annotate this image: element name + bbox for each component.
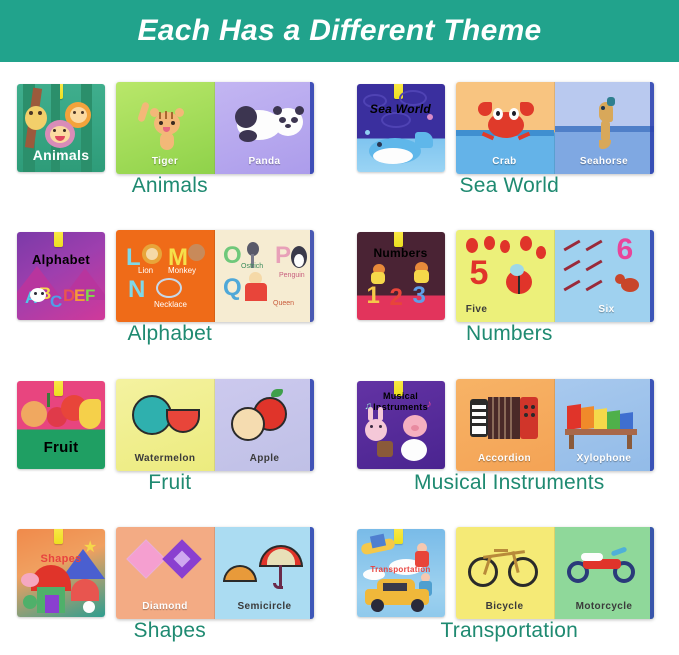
page-label-seahorse: Seahorse (555, 156, 654, 167)
book-page-diamond: Diamond (116, 527, 215, 619)
cover-title-shapes: Shapes (17, 553, 105, 565)
letter-o: O (223, 242, 242, 270)
book-set-shapes: ★ Shapes Diamond (0, 517, 340, 617)
word-ostrich: Ostrich (241, 263, 263, 270)
theme-caption-shapes: Shapes (0, 619, 340, 643)
book-page-xylophone: Xylophone (555, 379, 654, 471)
theme-cell-transportation[interactable]: Transportation (340, 507, 679, 655)
book-page-motorcycle: Motorcycle (555, 527, 654, 619)
theme-grid: Animals (0, 62, 679, 655)
book-cover-alphabet[interactable]: Alphabet A B C D E F (17, 232, 105, 320)
theme-cell-shapes[interactable]: ★ Shapes Diamond (0, 507, 340, 655)
page-label-xylophone: Xylophone (555, 453, 654, 464)
theme-caption-numbers: Numbers (340, 322, 679, 346)
page-label-bicycle: Bicycle (456, 601, 554, 612)
ribbon-tab-icon (54, 381, 63, 396)
page-label-motorcycle: Motorcycle (555, 601, 654, 612)
word-penguin: Penguin (279, 272, 305, 279)
digit-3: 3 (413, 282, 426, 310)
numeral-six: 6 (617, 234, 634, 266)
book-page-apple: Apple (215, 379, 314, 471)
theme-cell-alphabet[interactable]: Alphabet A B C D E F L (0, 210, 340, 358)
book-page-tiger: Tiger (116, 82, 215, 174)
theme-caption-sea-world: Sea World (340, 174, 679, 198)
book-set-animals: Animals (0, 72, 340, 172)
ribbon-tab-icon (394, 232, 403, 247)
book-cover-fruit[interactable]: Fruit (17, 381, 105, 469)
digit-2: 2 (390, 284, 403, 312)
book-cover-transportation[interactable]: Transportation (357, 529, 445, 617)
book-page-semicircle: Semicircle (215, 527, 314, 619)
page-label-diamond: Diamond (116, 601, 214, 612)
book-cover-shapes[interactable]: ★ Shapes (17, 529, 105, 617)
book-set-fruit: Fruit Watermelon Apple (0, 369, 340, 469)
cover-title-numbers: Numbers (357, 246, 445, 260)
cover-title-fruit: Fruit (17, 439, 105, 456)
cover-title-animals: Animals (17, 147, 105, 163)
page-label-crab: Crab (456, 156, 554, 167)
cover-title-alphabet: Alphabet (17, 252, 105, 267)
page-label-accordion: Accordion (456, 453, 554, 464)
page-label-semicircle: Semicircle (215, 601, 314, 612)
word-queen: Queen (273, 300, 294, 307)
book-spread-fruit[interactable]: Watermelon Apple (116, 379, 314, 471)
book-cover-musical-instruments[interactable]: Musical Instruments ♪ ♫ (357, 381, 445, 469)
page-label-six: Six (577, 304, 637, 315)
book-page-opq: O P Ostrich Penguin Q Queen (215, 230, 314, 322)
theme-caption-transportation: Transportation (340, 619, 679, 643)
cover-title-transportation: Transportation (357, 565, 445, 574)
book-page-watermelon: Watermelon (116, 379, 215, 471)
letter-q: Q (223, 274, 242, 302)
book-page-five: 5 Five (456, 230, 555, 322)
word-lion: Lion (138, 266, 153, 275)
ribbon-tab-icon (54, 232, 63, 247)
theme-cell-fruit[interactable]: Fruit Watermelon Apple (0, 359, 340, 507)
numeral-five: 5 (470, 256, 489, 290)
book-spread-animals[interactable]: Tiger Panda (116, 82, 314, 174)
letter-n: N (128, 276, 145, 304)
digit-1: 1 (367, 282, 380, 310)
book-page-crab: Crab (456, 82, 555, 174)
theme-caption-alphabet: Alphabet (0, 322, 340, 346)
book-set-sea-world: Sea World (340, 72, 679, 172)
book-page-panda: Panda (215, 82, 314, 174)
theme-caption-animals: Animals (0, 174, 340, 198)
theme-cell-musical-instruments[interactable]: Musical Instruments ♪ ♫ (340, 359, 679, 507)
book-page-bicycle: Bicycle (456, 527, 555, 619)
book-set-transportation: Transportation (340, 517, 679, 617)
book-set-alphabet: Alphabet A B C D E F L (0, 220, 340, 320)
book-spread-sea-world[interactable]: Crab Seahorse (456, 82, 654, 174)
book-set-numbers: Numbers 1 2 3 (340, 220, 679, 320)
book-spread-musical-instruments[interactable]: Accordion Xylophone (456, 379, 654, 471)
book-cover-numbers[interactable]: Numbers 1 2 3 (357, 232, 445, 320)
page-label-panda: Panda (215, 156, 314, 167)
theme-cell-numbers[interactable]: Numbers 1 2 3 (340, 210, 679, 358)
book-spread-shapes[interactable]: Diamond Semicircle (116, 527, 314, 619)
book-page-lmn: L M Lion Monkey N Necklace (116, 230, 215, 322)
book-spread-alphabet[interactable]: L M Lion Monkey N Necklace O (116, 230, 314, 322)
book-set-musical-instruments: Musical Instruments ♪ ♫ (340, 369, 679, 469)
theme-cell-animals[interactable]: Animals (0, 62, 340, 210)
page-label-watermelon: Watermelon (116, 453, 214, 464)
page-label-tiger: Tiger (116, 156, 214, 167)
book-cover-animals[interactable]: Animals (17, 84, 105, 172)
book-page-seahorse: Seahorse (555, 82, 654, 174)
word-necklace: Necklace (154, 300, 187, 309)
word-monkey: Monkey (168, 266, 196, 275)
theme-cell-sea-world[interactable]: Sea World (340, 62, 679, 210)
letter-p: P (275, 242, 291, 270)
book-page-accordion: Accordion (456, 379, 555, 471)
ribbon-tab-icon (394, 529, 403, 544)
book-spread-transportation[interactable]: Bicycle Motorcycle (456, 527, 654, 619)
book-spread-numbers[interactable]: 5 Five 6 (456, 230, 654, 322)
infographic-page: Each Has a Different Theme (0, 0, 679, 655)
theme-caption-musical-instruments: Musical Instruments (340, 471, 679, 495)
page-title: Each Has a Different Theme (137, 14, 541, 48)
book-page-six: 6 Six (555, 230, 654, 322)
ribbon-tab-icon (54, 529, 63, 544)
book-cover-sea-world[interactable]: Sea World (357, 84, 445, 172)
page-label-five: Five (456, 304, 526, 315)
header-banner: Each Has a Different Theme (0, 0, 679, 62)
page-label-apple: Apple (215, 453, 314, 464)
theme-caption-fruit: Fruit (0, 471, 340, 495)
